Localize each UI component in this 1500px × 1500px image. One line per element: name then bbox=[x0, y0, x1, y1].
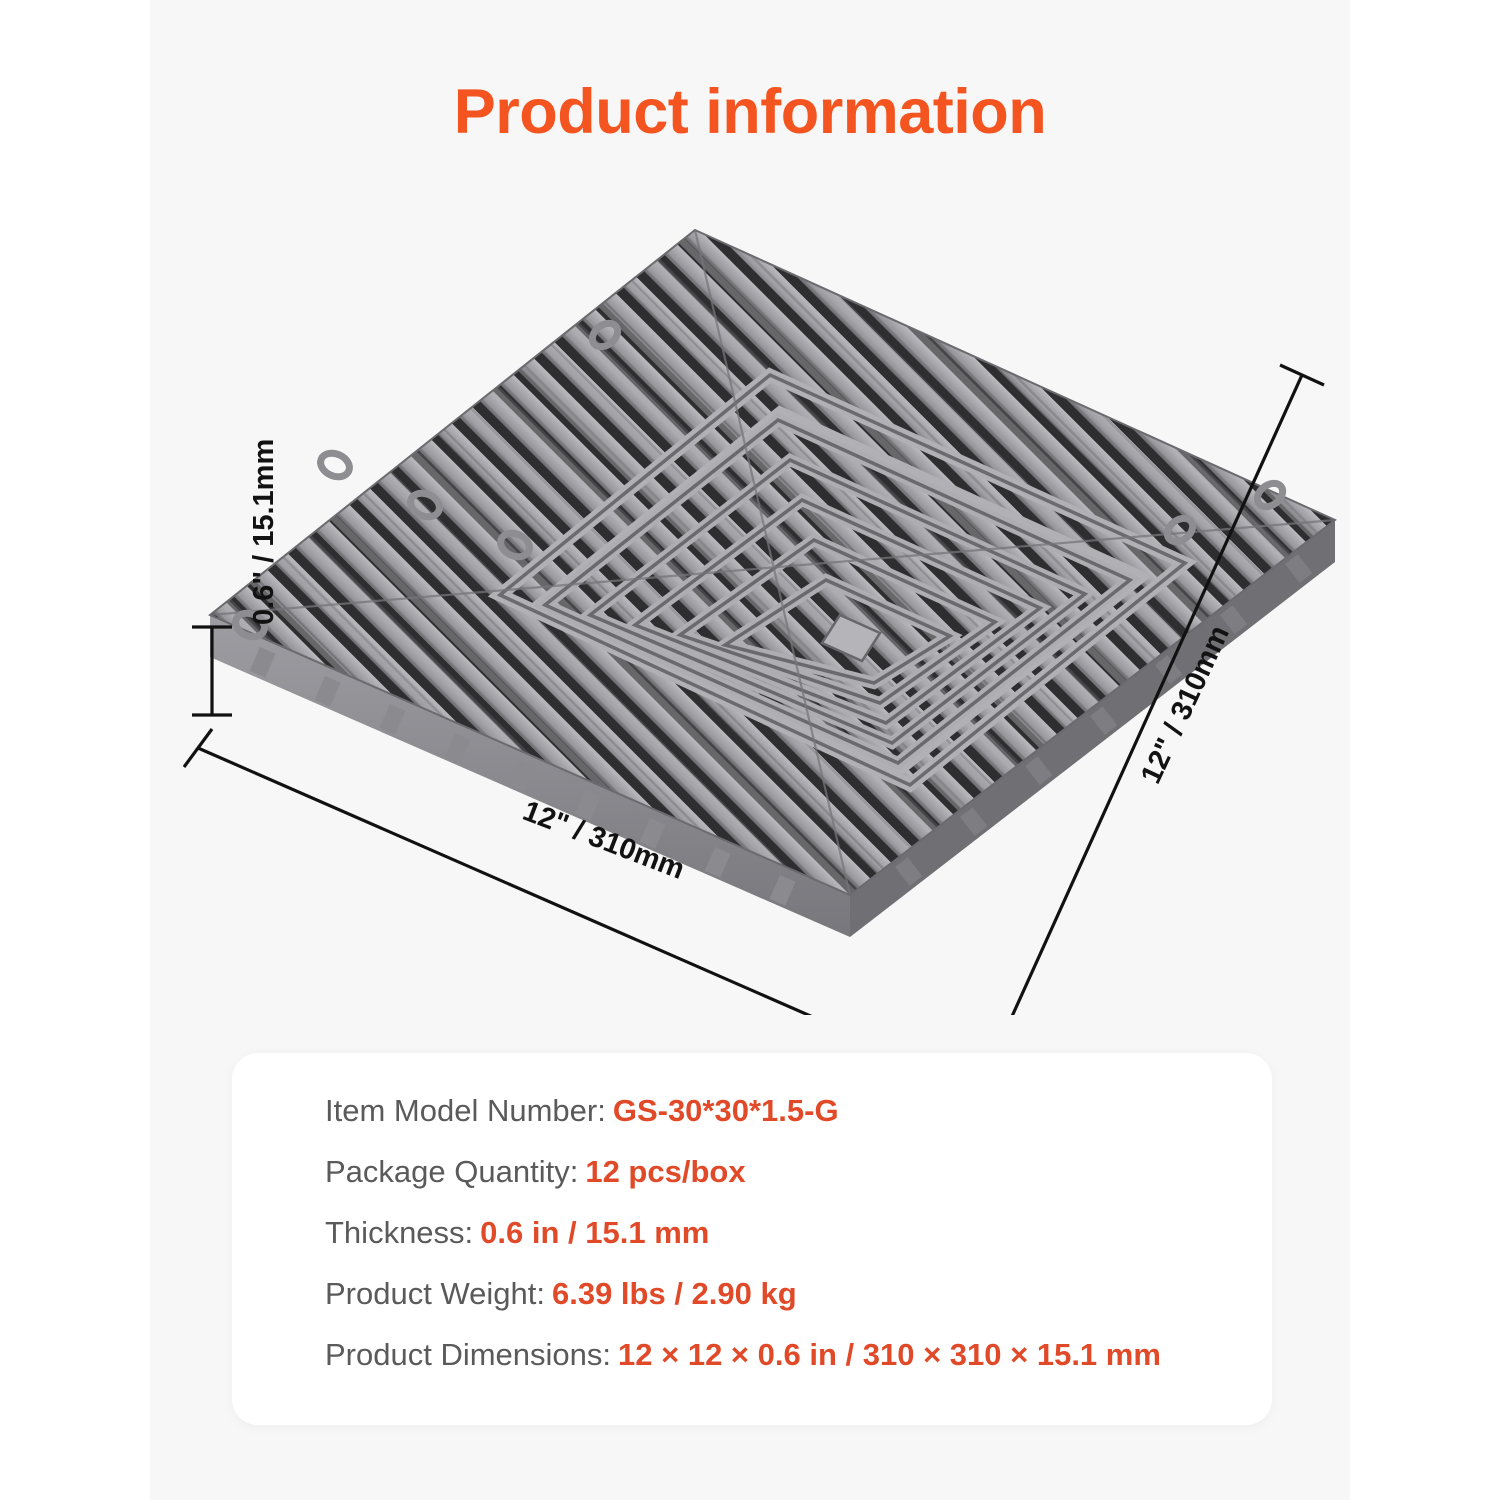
spec-label: Product Weight: bbox=[325, 1276, 545, 1311]
spec-row-thickness: Thickness:0.6 in / 15.1 mm bbox=[325, 1217, 1242, 1248]
spec-label: Thickness: bbox=[325, 1215, 473, 1250]
spec-value: 12 pcs/box bbox=[585, 1154, 745, 1189]
spec-row-product-weight: Product Weight:6.39 lbs / 2.90 kg bbox=[325, 1278, 1242, 1309]
product-illustration: 0.6" / 15.1mm 12" / 310mm 12" / 310mm bbox=[150, 195, 1350, 1015]
specifications-list: Item Model Number:GS-30*30*1.5-G Package… bbox=[325, 1095, 1242, 1370]
spec-row-product-dimensions: Product Dimensions:12 × 12 × 0.6 in / 31… bbox=[325, 1339, 1242, 1370]
spec-value: GS-30*30*1.5-G bbox=[613, 1093, 839, 1128]
tile-image bbox=[150, 195, 1350, 1015]
spec-row-package-quantity: Package Quantity:12 pcs/box bbox=[325, 1156, 1242, 1187]
page-title: Product information bbox=[150, 78, 1350, 147]
floor-tile-svg bbox=[150, 195, 1350, 1015]
spec-label: Package Quantity: bbox=[325, 1154, 578, 1189]
spec-label: Item Model Number: bbox=[325, 1093, 606, 1128]
spec-row-item-model-number: Item Model Number:GS-30*30*1.5-G bbox=[325, 1095, 1242, 1126]
product-information-page: Product information bbox=[0, 0, 1500, 1500]
specifications-card: Item Model Number:GS-30*30*1.5-G Package… bbox=[232, 1053, 1272, 1425]
spec-label: Product Dimensions: bbox=[325, 1337, 611, 1372]
dimension-label-thickness: 0.6" / 15.1mm bbox=[248, 439, 281, 625]
spec-value: 6.39 lbs / 2.90 kg bbox=[552, 1276, 797, 1311]
spec-value: 12 × 12 × 0.6 in / 310 × 310 × 15.1 mm bbox=[618, 1337, 1161, 1372]
spec-value: 0.6 in / 15.1 mm bbox=[480, 1215, 709, 1250]
